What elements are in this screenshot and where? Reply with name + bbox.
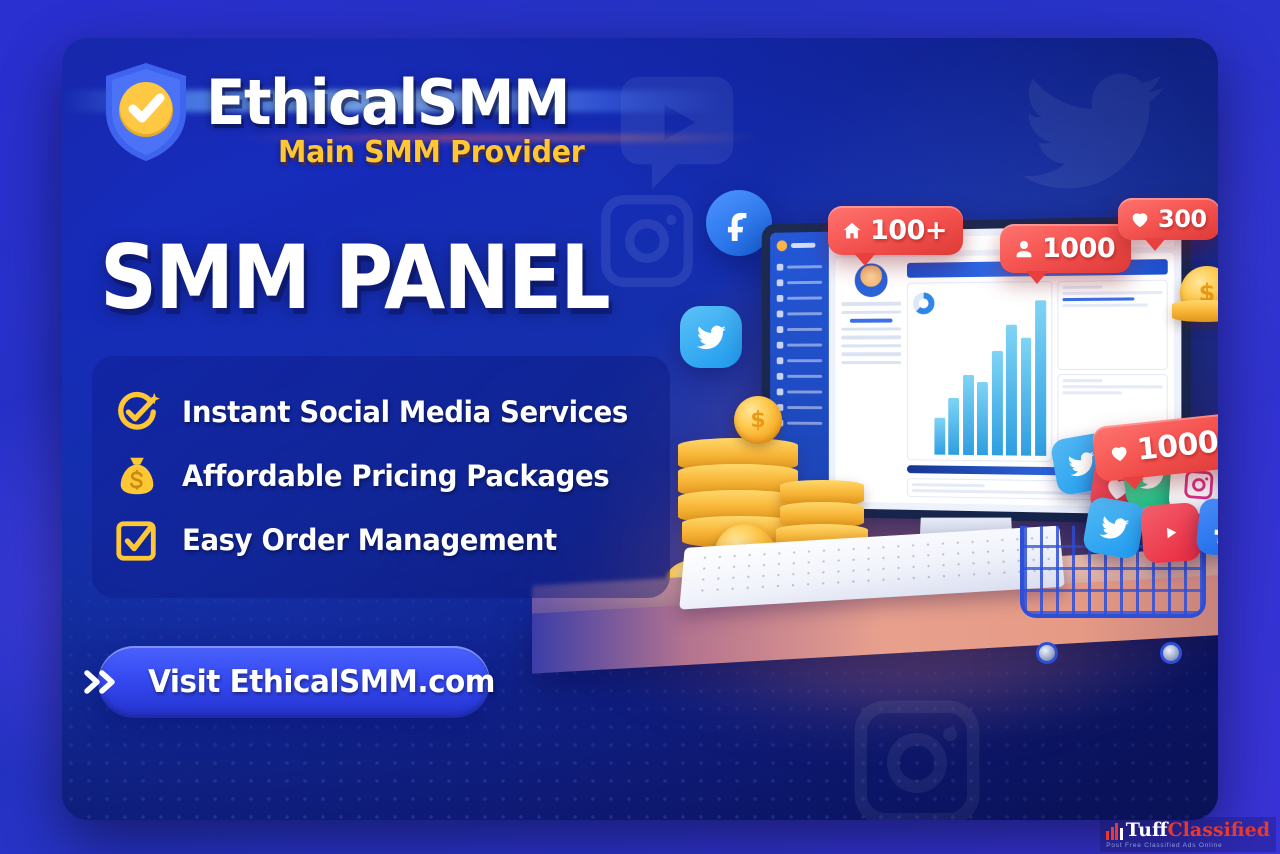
watermark-name-part2: Classified: [1168, 819, 1270, 841]
heart-icon: [1129, 208, 1151, 230]
twitter-icon: [680, 306, 742, 368]
badge-value: 1000: [1042, 233, 1115, 264]
gold-coins: [678, 464, 798, 498]
checkbox-checked-icon: [114, 517, 160, 563]
double-chevron-right-icon: [83, 668, 123, 696]
gold-coin: $: [1180, 266, 1218, 320]
stat-badge-users: 1000: [1000, 224, 1131, 273]
list-item: Affordable Pricing Packages: [114, 444, 644, 508]
badge-value: 300: [1158, 205, 1207, 233]
shopping-cart: [1010, 508, 1218, 668]
keyboard: [679, 526, 1065, 610]
instagram-icon: [842, 688, 992, 820]
bar-chart: [907, 281, 1052, 462]
promo-banner-card: $ $ $ $ $: [62, 38, 1218, 820]
badge-value: 100+: [870, 215, 947, 246]
bar-chart-icon: [1106, 822, 1123, 840]
youtube-icon: [1140, 502, 1202, 564]
stat-badge-likes: 300: [1118, 198, 1218, 240]
list-item: Instant Social Media Services: [114, 380, 644, 444]
feature-label: Affordable Pricing Packages: [182, 459, 609, 493]
facebook-icon: [706, 190, 772, 256]
user-icon: [1013, 238, 1035, 260]
gold-coins: [678, 438, 798, 472]
instant-check-sparkle-icon: [114, 389, 160, 435]
facebook-icon: [1195, 497, 1218, 559]
dashboard-sidebar: [770, 232, 829, 509]
visit-website-button[interactable]: Visit EthicalSMM.com: [98, 646, 490, 718]
feature-label: Easy Order Management: [182, 523, 557, 557]
donut-chart: [913, 292, 935, 314]
tuffclassified-watermark[interactable]: TuffClassified Post Free Classified Ads …: [1100, 817, 1276, 852]
shield-check-icon: [100, 60, 192, 164]
gold-coins: [780, 480, 864, 506]
money-bag-icon: [114, 453, 160, 499]
gold-coin: $: [1022, 598, 1066, 628]
badge-value: 1000: [1135, 425, 1218, 468]
youtube-icon: [602, 58, 752, 208]
feature-list: Instant Social Media Services Affordable…: [92, 356, 670, 598]
brand-tagline: Main SMM Provider: [278, 135, 585, 170]
gold-coin: $: [734, 396, 782, 444]
stat-badge-followers: 100+: [828, 206, 963, 255]
gold-coins: [682, 516, 798, 548]
gold-coins: [1172, 300, 1218, 322]
brand-name: EthicalSMM: [206, 74, 573, 133]
twitter-icon: [1082, 496, 1147, 561]
heart-icon: [1107, 440, 1131, 464]
monitor-foot: [882, 544, 1052, 560]
twitter-icon: [1008, 46, 1178, 216]
gold-coins: [776, 524, 868, 552]
page-title: SMM PANEL: [100, 234, 609, 322]
brand-logo-lockup: EthicalSMM Main SMM Provider: [100, 60, 601, 170]
watermark-name-part1: Tuff: [1126, 819, 1168, 841]
monitor-stand: [919, 518, 1013, 551]
gold-coin: $: [666, 560, 722, 600]
feature-label: Instant Social Media Services: [182, 395, 628, 429]
gold-coins: [780, 502, 864, 528]
avatar: [855, 263, 888, 297]
watermark-tagline: Post Free Classified Ads Online: [1106, 842, 1222, 849]
home-icon: [841, 220, 863, 242]
gold-coins: [678, 490, 798, 524]
list-item: Easy Order Management: [114, 508, 644, 572]
gold-coin: $: [714, 524, 776, 586]
stat-badge-cart-likes: 1000: [1092, 413, 1218, 483]
cta-label: Visit EthicalSMM.com: [149, 664, 496, 700]
